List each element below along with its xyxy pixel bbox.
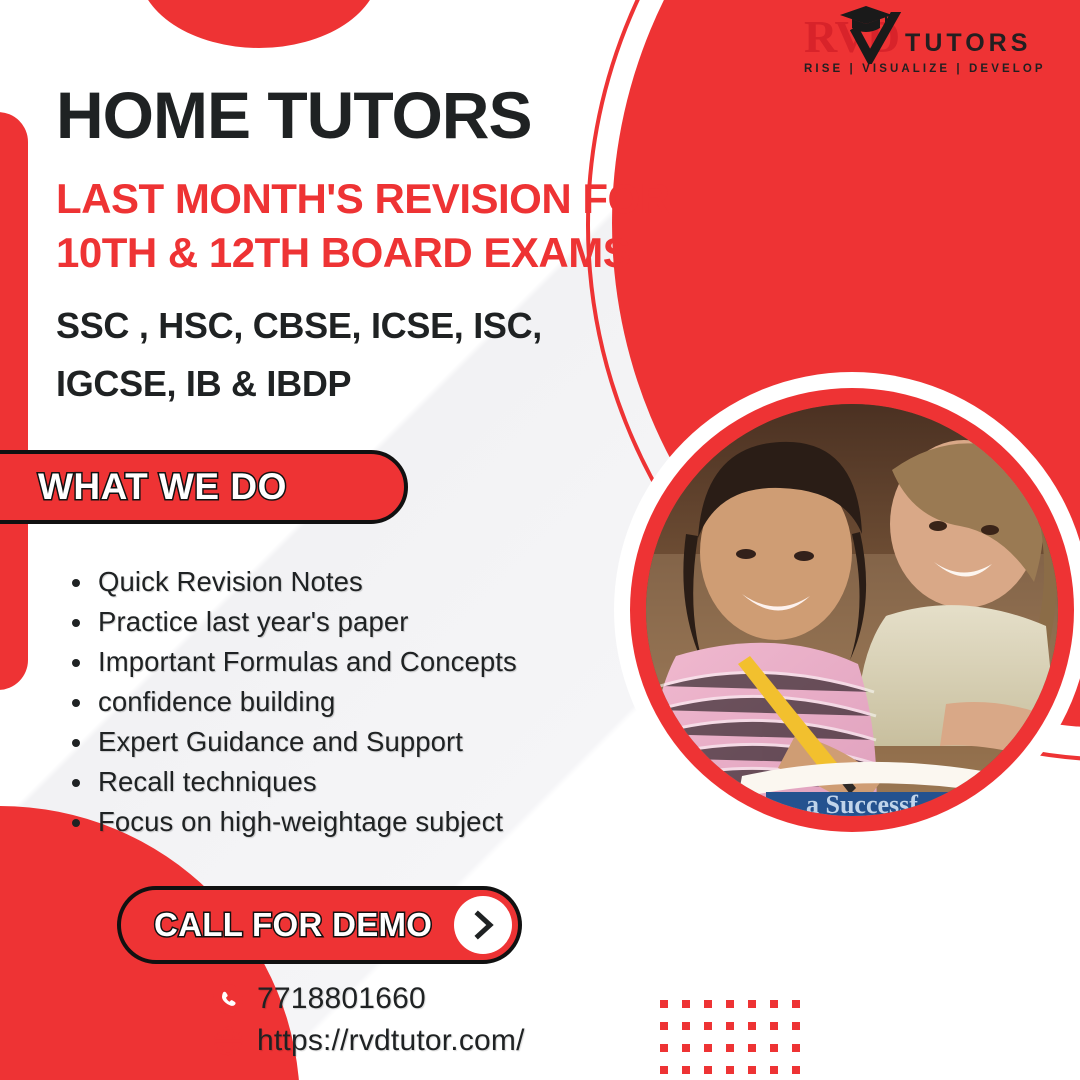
features-list: Quick Revision Notes Practice last year'…: [66, 562, 517, 842]
checkmark-icon: [850, 12, 902, 64]
list-item: Quick Revision Notes: [66, 562, 517, 602]
photo-book-text: a Successf: [806, 790, 918, 816]
logo-tutors-text: TUTORS: [905, 31, 1031, 60]
subheadline-line-2: 10TH & 12TH BOARD EXAMS: [56, 226, 670, 280]
boards-line-2: IGCSE, IB & IBDP: [56, 355, 542, 413]
red-left-bar: [0, 112, 28, 690]
contact-website[interactable]: https://rvdtutor.com/: [212, 1024, 525, 1058]
brand-logo: RVD TUTORS RISE | VISUALIZE | DEVELOP: [804, 14, 1060, 75]
list-item: Practice last year's paper: [66, 602, 517, 642]
logo-tagline: RISE | VISUALIZE | DEVELOP: [804, 63, 1060, 75]
section-badge-label: WHAT WE DO: [38, 466, 287, 508]
phone-number: 7718801660: [257, 982, 426, 1016]
list-item: Recall techniques: [66, 762, 517, 802]
chevron-right-icon[interactable]: [454, 896, 512, 954]
logo-wordmark: RVD TUTORS: [804, 14, 1060, 60]
call-for-demo-label: CALL FOR DEMO: [154, 906, 454, 944]
subheadline-line-1: LAST MONTH'S REVISION FOR: [56, 172, 670, 226]
section-badge-what-we-do: WHAT WE DO: [0, 450, 408, 524]
boards-line-1: SSC , HSC, CBSE, ICSE, ISC,: [56, 297, 542, 355]
list-item: Focus on high-weightage subject: [66, 802, 517, 842]
dot-grid-decoration: [660, 1000, 814, 1080]
list-item: Expert Guidance and Support: [66, 722, 517, 762]
list-item: Important Formulas and Concepts: [66, 642, 517, 682]
contact-phone[interactable]: 7718801660: [212, 982, 525, 1016]
page-title: HOME TUTORS: [56, 82, 531, 148]
student-tutor-photo: a Successf: [646, 404, 1058, 816]
globe-icon: [212, 1025, 244, 1057]
website-url: https://rvdtutor.com/: [257, 1024, 525, 1058]
boards-list: SSC , HSC, CBSE, ICSE, ISC, IGCSE, IB & …: [56, 297, 542, 412]
red-ellipse-top: [138, 0, 380, 48]
call-for-demo-button[interactable]: CALL FOR DEMO: [117, 886, 522, 964]
subheadline: LAST MONTH'S REVISION FOR 10TH & 12TH BO…: [56, 172, 670, 280]
phone-icon: [212, 983, 244, 1015]
list-item: confidence building: [66, 682, 517, 722]
poster-canvas: a Successf RVD TUTORS RISE | VISUALIZE |…: [0, 0, 1080, 1080]
contact-block: 7718801660 https://rvdtutor.com/: [212, 982, 525, 1066]
